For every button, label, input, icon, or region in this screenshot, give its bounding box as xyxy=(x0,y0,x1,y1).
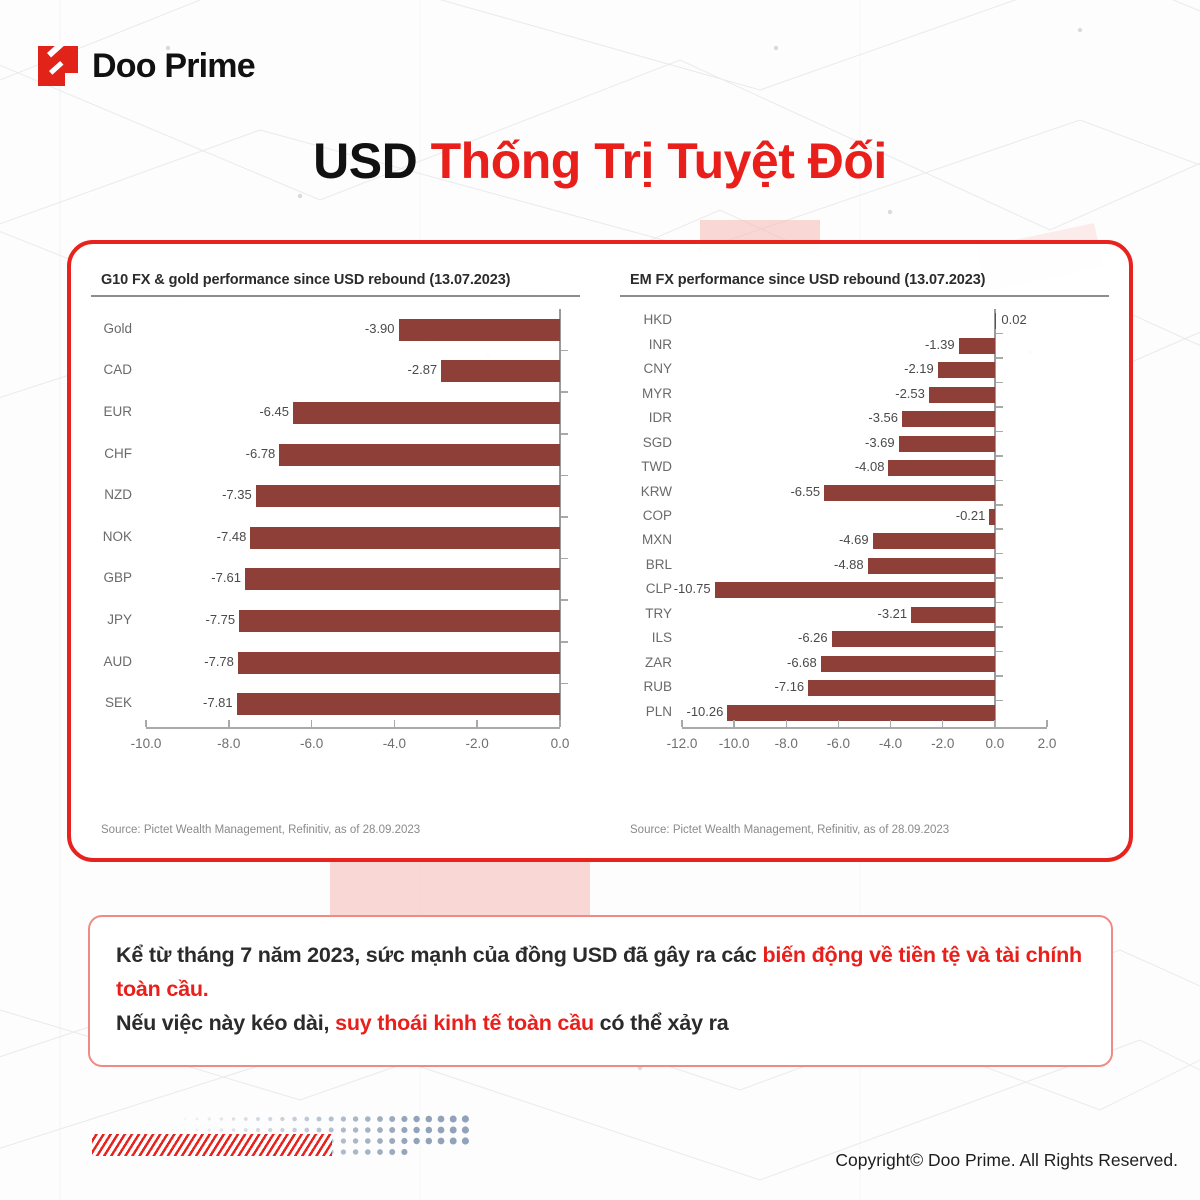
x-axis-tick-label: -10.0 xyxy=(719,736,750,751)
x-axis-tick xyxy=(311,720,313,727)
chart-plot-em: HKD0.02INR-1.39CNY-2.19MYR-2.53IDR-3.56S… xyxy=(620,309,1109,777)
x-axis-tick-label: -10.0 xyxy=(131,736,162,751)
axis-tick xyxy=(561,558,568,560)
x-axis-tick-label: -4.0 xyxy=(879,736,902,751)
x-axis-line xyxy=(682,727,1047,729)
x-axis-tick xyxy=(733,720,735,727)
x-axis-tick-label: -6.0 xyxy=(300,736,323,751)
axis-tick xyxy=(996,480,1003,482)
axis-tick xyxy=(996,431,1003,433)
brand-name: Doo Prime xyxy=(92,49,255,83)
brand-logo: Doo Prime xyxy=(38,46,255,86)
bar xyxy=(824,485,995,501)
axis-tick xyxy=(996,626,1003,628)
doo-prime-flag-mark-icon xyxy=(38,46,78,86)
bar xyxy=(832,631,995,647)
axis-tick xyxy=(996,455,1003,457)
axis-tick xyxy=(561,433,568,435)
value-label: -6.68 xyxy=(620,655,817,670)
value-label: -4.69 xyxy=(620,532,869,547)
chart-plot-g10: Gold-3.90CAD-2.87EUR-6.45CHF-6.78NZD-7.3… xyxy=(91,309,580,777)
x-axis-tick-label: -6.0 xyxy=(827,736,850,751)
diagonal-stripes-decoration xyxy=(92,1134,332,1156)
x-axis-tick xyxy=(476,720,478,727)
x-axis-tick-label: 0.0 xyxy=(985,736,1004,751)
callout-line2-highlight: suy thoái kinh tế toàn cầu xyxy=(335,1011,594,1035)
chart-panel-g10: G10 FX & gold performance since USD rebo… xyxy=(71,244,600,858)
bar xyxy=(245,568,560,590)
x-axis-tick xyxy=(559,720,561,727)
value-label: -6.55 xyxy=(620,484,820,499)
value-label: -7.61 xyxy=(91,570,241,585)
summary-callout: Kể từ tháng 7 năm 2023, sức mạnh của đồn… xyxy=(88,915,1113,1067)
axis-tick xyxy=(996,577,1003,579)
bar xyxy=(938,362,995,378)
value-label: -2.19 xyxy=(620,361,934,376)
bar xyxy=(989,509,994,525)
bar xyxy=(959,338,995,354)
value-label: -7.35 xyxy=(91,487,252,502)
value-label: -7.75 xyxy=(91,612,235,627)
axis-tick xyxy=(996,504,1003,506)
value-label: -7.81 xyxy=(91,695,233,710)
charts-frame: G10 FX & gold performance since USD rebo… xyxy=(67,240,1133,862)
chart-title-rule xyxy=(91,295,580,297)
bar xyxy=(808,680,995,696)
chart-panel-em: EM FX performance since USD rebound (13.… xyxy=(600,244,1129,858)
callout-line2-plain-a: Nếu việc này kéo dài, xyxy=(116,1011,335,1035)
x-axis-tick xyxy=(838,720,840,727)
bar xyxy=(237,693,560,715)
page-title-red: Thống Trị Tuyệt Đối xyxy=(431,133,887,189)
x-axis-tick-label: -4.0 xyxy=(383,736,406,751)
bar xyxy=(899,436,995,452)
poster-root: Doo Prime USD Thống Trị Tuyệt Đối G10 FX… xyxy=(0,0,1200,1200)
axis-tick xyxy=(996,675,1003,677)
value-label: -3.56 xyxy=(620,410,898,425)
axis-tick xyxy=(561,516,568,518)
value-label: -7.16 xyxy=(620,679,804,694)
callout-line1-plain: Kể từ tháng 7 năm 2023, sức mạnh của đồn… xyxy=(116,943,762,967)
x-axis-tick xyxy=(145,720,147,727)
axis-tick xyxy=(561,391,568,393)
bar xyxy=(238,652,560,674)
copyright-text: Copyright© Doo Prime. All Rights Reserve… xyxy=(835,1150,1178,1171)
value-label: -10.75 xyxy=(620,581,711,596)
axis-tick xyxy=(996,528,1003,530)
bar xyxy=(727,705,994,721)
bar xyxy=(929,387,995,403)
bar xyxy=(441,360,560,382)
x-axis-tick xyxy=(890,720,892,727)
x-axis-tick xyxy=(942,720,944,727)
axis-tick xyxy=(996,406,1003,408)
chart-source-em: Source: Pictet Wealth Management, Refini… xyxy=(630,824,949,836)
x-axis-tick xyxy=(228,720,230,727)
value-label: -6.78 xyxy=(91,446,275,461)
bar xyxy=(256,485,560,507)
x-axis-tick-label: -2.0 xyxy=(931,736,954,751)
x-axis-tick-label: 0.0 xyxy=(551,736,570,751)
bar xyxy=(279,444,560,466)
chart-title-rule xyxy=(620,295,1109,297)
axis-tick xyxy=(561,683,568,685)
bar xyxy=(821,656,995,672)
value-label: -1.39 xyxy=(620,337,955,352)
axis-tick xyxy=(996,333,1003,335)
value-label: -2.87 xyxy=(91,362,437,377)
value-label: -3.21 xyxy=(620,606,907,621)
page-title: USD Thống Trị Tuyệt Đối xyxy=(0,132,1200,190)
page-title-dark: USD xyxy=(313,133,430,189)
chart-title-em: EM FX performance since USD rebound (13.… xyxy=(620,272,1109,288)
axis-tick xyxy=(996,553,1003,555)
bar xyxy=(868,558,995,574)
bar xyxy=(250,527,560,549)
value-label: -6.26 xyxy=(620,630,828,645)
chart-source-g10: Source: Pictet Wealth Management, Refini… xyxy=(101,824,420,836)
bar xyxy=(715,582,995,598)
callout-line2-plain-b: có thể xảy ra xyxy=(594,1011,729,1035)
bar xyxy=(902,411,995,427)
value-label: -7.78 xyxy=(91,654,234,669)
chart-title-g10: G10 FX & gold performance since USD rebo… xyxy=(91,272,580,288)
value-label: -0.21 xyxy=(620,508,985,523)
bar xyxy=(399,319,560,341)
value-label: -7.48 xyxy=(91,529,246,544)
x-axis-tick-label: 2.0 xyxy=(1038,736,1057,751)
axis-tick xyxy=(996,602,1003,604)
bar xyxy=(293,402,560,424)
callout-line-2: Nếu việc này kéo dài, suy thoái kinh tế … xyxy=(116,1007,1085,1041)
x-axis-line xyxy=(146,727,560,729)
x-axis-tick-label: -8.0 xyxy=(217,736,240,751)
x-axis-tick xyxy=(394,720,396,727)
x-axis-tick xyxy=(994,720,996,727)
value-label: -6.45 xyxy=(91,404,289,419)
axis-tick xyxy=(561,641,568,643)
axis-tick xyxy=(996,357,1003,359)
x-axis-tick-label: -12.0 xyxy=(667,736,698,751)
x-axis-tick-label: -8.0 xyxy=(775,736,798,751)
axis-tick xyxy=(561,599,568,601)
value-label: -4.88 xyxy=(620,557,864,572)
axis-tick xyxy=(996,651,1003,653)
bar xyxy=(911,607,995,623)
x-axis-tick xyxy=(681,720,683,727)
value-label: -2.53 xyxy=(620,386,925,401)
value-label: -3.90 xyxy=(91,321,395,336)
value-label: 0.02 xyxy=(1001,312,1026,327)
axis-tick xyxy=(561,350,568,352)
bar xyxy=(995,313,996,329)
bar xyxy=(239,610,560,632)
axis-tick xyxy=(996,700,1003,702)
value-label: -4.08 xyxy=(620,459,884,474)
bar xyxy=(888,460,994,476)
x-axis-tick xyxy=(1046,720,1048,727)
x-axis-tick-label: -2.0 xyxy=(466,736,489,751)
bar xyxy=(873,533,995,549)
category-label: HKD xyxy=(620,312,672,327)
value-label: -10.26 xyxy=(620,704,723,719)
callout-line-1: Kể từ tháng 7 năm 2023, sức mạnh của đồn… xyxy=(116,939,1085,1007)
value-label: -3.69 xyxy=(620,435,895,450)
axis-tick xyxy=(561,475,568,477)
axis-tick xyxy=(996,382,1003,384)
x-axis-tick xyxy=(786,720,788,727)
